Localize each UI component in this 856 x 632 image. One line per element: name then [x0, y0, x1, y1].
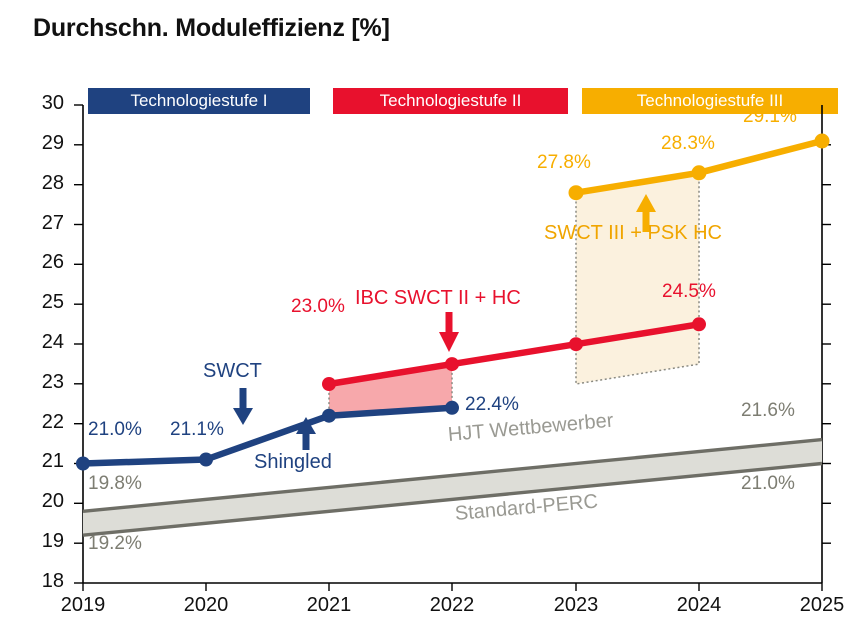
label-blue-2022: 22.4%: [465, 394, 519, 416]
x-tick-2022: 2022: [412, 594, 492, 617]
y-tick-30: 30: [14, 92, 64, 115]
x-axis-ticks: [83, 583, 822, 591]
y-tick-24: 24: [14, 331, 64, 354]
annotation-ibc: IBC SWCT II + HC: [355, 287, 521, 310]
x-tick-2019: 2019: [43, 594, 123, 617]
y-tick-18: 18: [14, 570, 64, 593]
y-tick-27: 27: [14, 212, 64, 235]
y-tick-21: 21: [14, 450, 64, 473]
y-tick-23: 23: [14, 371, 64, 394]
y-tick-28: 28: [14, 172, 64, 195]
label-red-2021: 23.0%: [291, 296, 345, 318]
annotation-swct3: SWCT III + PSK HC: [544, 222, 722, 245]
x-tick-2023: 2023: [536, 594, 616, 617]
label-orange-2023: 27.8%: [537, 152, 591, 174]
label-orange-2024: 28.3%: [661, 133, 715, 155]
x-tick-2025: 2025: [782, 594, 856, 617]
y-tick-29: 29: [14, 132, 64, 155]
y-axis-ticks: [74, 105, 83, 583]
annotation-shingled: Shingled: [254, 451, 332, 474]
label-band-bot-right: 21.0%: [741, 473, 795, 495]
y-axis-ticks-right: [822, 145, 831, 543]
label-orange-2025: 29.1%: [743, 106, 797, 128]
label-band-top-right: 21.6%: [741, 400, 795, 422]
competitor-band: [83, 440, 822, 536]
shaded-region-stage-3: [576, 173, 699, 384]
y-tick-26: 26: [14, 251, 64, 274]
label-red-2024: 24.5%: [662, 281, 716, 303]
y-tick-22: 22: [14, 411, 64, 434]
label-band-top-left: 19.8%: [88, 473, 142, 495]
x-tick-2020: 2020: [166, 594, 246, 617]
chart-container: Durchschn. Moduleffizienz [%] Technologi…: [0, 0, 856, 632]
y-tick-19: 19: [14, 530, 64, 553]
ibc-arrow-icon: [439, 312, 459, 352]
swct-arrow-icon: [233, 388, 253, 425]
y-tick-25: 25: [14, 291, 64, 314]
annotation-swct: SWCT: [203, 360, 262, 383]
label-blue-2019: 21.0%: [88, 419, 142, 441]
x-tick-2021: 2021: [289, 594, 369, 617]
label-blue-2020: 21.1%: [170, 419, 224, 441]
y-tick-20: 20: [14, 490, 64, 513]
label-band-bot-left: 19.2%: [88, 533, 142, 555]
x-tick-2024: 2024: [659, 594, 739, 617]
